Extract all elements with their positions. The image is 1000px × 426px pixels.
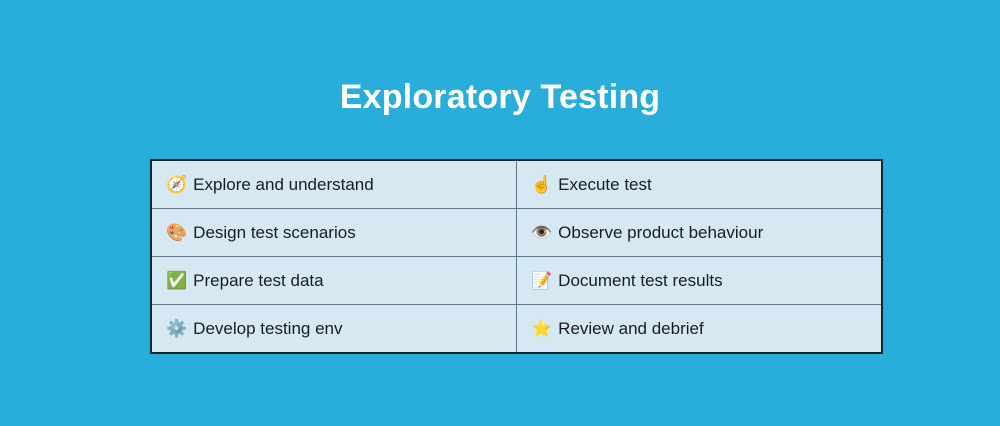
artist-palette-icon: 🎨 (166, 223, 187, 243)
table-row: 🎨 Design test scenarios 👁️ Observe produ… (151, 209, 882, 257)
gear-icon: ⚙️ (166, 319, 187, 339)
table-row: 🧭 Explore and understand ☝️ Execute test (151, 160, 882, 209)
table-cell-right[interactable]: 👁️ Observe product behaviour (517, 209, 883, 257)
activity-label: Document test results (558, 271, 722, 291)
table-cell-right[interactable]: 📝 Document test results (517, 257, 883, 305)
table-cell-left[interactable]: 🧭 Explore and understand (151, 160, 517, 209)
star-icon: ⭐ (531, 319, 552, 339)
activity-table-body: 🧭 Explore and understand ☝️ Execute test… (151, 160, 882, 353)
index-finger-up-icon: ☝️ (531, 175, 552, 195)
memo-icon: 📝 (531, 271, 552, 291)
table-cell-right[interactable]: ☝️ Execute test (517, 160, 883, 209)
activity-label: Design test scenarios (193, 223, 356, 243)
page-title: Exploratory Testing (0, 76, 1000, 118)
eye-icon: 👁️ (531, 223, 552, 243)
activity-label: Develop testing env (193, 319, 342, 339)
activity-table: 🧭 Explore and understand ☝️ Execute test… (150, 159, 883, 354)
table-row: ⚙️ Develop testing env ⭐ Review and debr… (151, 305, 882, 354)
table-row: ✅ Prepare test data 📝 Document test resu… (151, 257, 882, 305)
table-cell-right[interactable]: ⭐ Review and debrief (517, 305, 883, 354)
activity-label: Observe product behaviour (558, 223, 763, 243)
activity-label: Prepare test data (193, 271, 323, 291)
table-cell-left[interactable]: 🎨 Design test scenarios (151, 209, 517, 257)
activity-label: Review and debrief (558, 319, 704, 339)
activity-label: Execute test (558, 175, 652, 195)
slide-canvas: Exploratory Testing 🧭 Explore and unders… (0, 0, 1000, 426)
table-cell-left[interactable]: ✅ Prepare test data (151, 257, 517, 305)
compass-icon: 🧭 (166, 175, 187, 195)
check-mark-button-icon: ✅ (166, 271, 187, 291)
table-cell-left[interactable]: ⚙️ Develop testing env (151, 305, 517, 354)
activity-label: Explore and understand (193, 175, 374, 195)
